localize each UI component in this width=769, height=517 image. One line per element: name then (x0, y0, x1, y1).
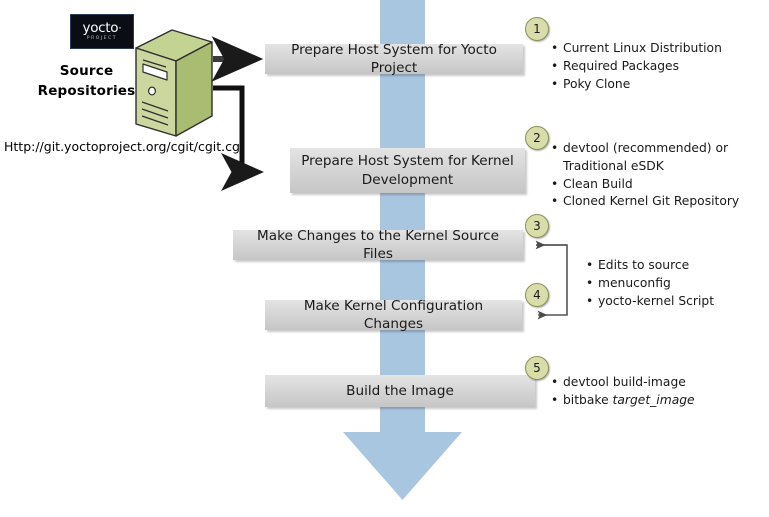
note-item: menuconfig (586, 275, 714, 293)
process-box-step-2[interactable]: Prepare Host System for Kernel Developme… (290, 148, 525, 193)
process-box-step-5-label: Build the Image (346, 382, 454, 400)
step-number-circle-4: 4 (525, 283, 549, 307)
note-text: Edits to source (598, 258, 689, 272)
note-text: bitbake (563, 393, 613, 407)
note-item: Edits to source (586, 257, 714, 275)
step-number-circle-2: 2 (525, 126, 549, 150)
process-box-step-4-label: Make Kernel Configuration Changes (273, 297, 514, 334)
note-text: Traditional eSDK (563, 159, 664, 173)
note-text: Cloned Kernel Git Repository (563, 194, 739, 208)
workflow-diagram: yocto· PROJECT Source Repositories Http:… (0, 0, 769, 517)
process-box-step-5[interactable]: Build the Image (265, 375, 535, 407)
note-text: Required Packages (563, 59, 679, 73)
note-item: Required Packages (551, 58, 722, 76)
step-number-circle-1: 1 (525, 17, 549, 41)
process-box-step-1-label: Prepare Host System for Yocto Project (273, 41, 515, 78)
step-number-circle-5: 5 (525, 356, 549, 380)
process-box-step-2-label: Prepare Host System for Kernel Developme… (301, 152, 514, 189)
note-text-emphasis: target_image (613, 393, 695, 407)
note-text: yocto-kernel Script (598, 294, 714, 308)
notes-list-step-1: Current Linux Distribution Required Pack… (551, 40, 722, 93)
note-text: Current Linux Distribution (563, 41, 722, 55)
note-item: Clean Build (551, 176, 739, 194)
step-number-circle-3: 3 (525, 214, 549, 238)
note-item: Cloned Kernel Git Repository (551, 193, 739, 211)
notes-list-step-2: devtool (recommended) or Traditional eSD… (551, 140, 739, 211)
process-box-step-1[interactable]: Prepare Host System for Yocto Project (265, 44, 523, 74)
process-box-step-4[interactable]: Make Kernel Configuration Changes (265, 300, 522, 330)
note-text: menuconfig (598, 276, 671, 290)
note-item: Current Linux Distribution (551, 40, 722, 58)
logo-subtitle: PROJECT (87, 37, 117, 41)
process-box-step-2-line-2: Development (362, 172, 454, 188)
note-item: Poky Clone (551, 76, 722, 94)
notes-list-step-5: devtool build-image bitbake target_image (551, 374, 695, 410)
logo-wordmark: yocto· (83, 22, 122, 36)
step-number-2: 2 (533, 131, 541, 145)
note-text: Clean Build (563, 177, 633, 191)
note-item: devtool (recommended) or (551, 140, 739, 158)
yocto-project-logo: yocto· PROJECT (70, 14, 134, 49)
logo-word-text: yocto (83, 20, 119, 36)
note-item: bitbake target_image (551, 392, 695, 410)
step-number-1: 1 (533, 22, 541, 36)
step-number-5: 5 (533, 361, 541, 375)
repository-url-text: Http://git.yoctoproject.org/cgit/cgit.cg… (4, 139, 243, 154)
source-label-line-1: Source (24, 62, 149, 82)
notes-list-steps-3-and-4: Edits to source menuconfig yocto-kernel … (586, 257, 714, 310)
note-item: yocto-kernel Script (586, 293, 714, 311)
process-box-step-2-line-1: Prepare Host System for Kernel (301, 153, 514, 169)
note-item: devtool build-image (551, 374, 695, 392)
source-repositories-label: Source Repositories (24, 62, 149, 101)
note-text: Poky Clone (563, 77, 630, 91)
server-tower-icon (132, 28, 216, 140)
source-label-line-2: Repositories (24, 82, 149, 102)
logo-dot: · (118, 21, 121, 34)
process-box-step-3-label: Make Changes to the Kernel Source Files (241, 227, 515, 264)
note-text: devtool (recommended) or (563, 141, 728, 155)
note-text: devtool build-image (563, 375, 686, 389)
step-number-3: 3 (533, 219, 541, 233)
process-box-step-3[interactable]: Make Changes to the Kernel Source Files (233, 230, 523, 260)
connector-server-to-step2 (213, 88, 258, 172)
note-item-continuation: Traditional eSDK (551, 158, 739, 176)
step-number-4: 4 (533, 288, 541, 302)
